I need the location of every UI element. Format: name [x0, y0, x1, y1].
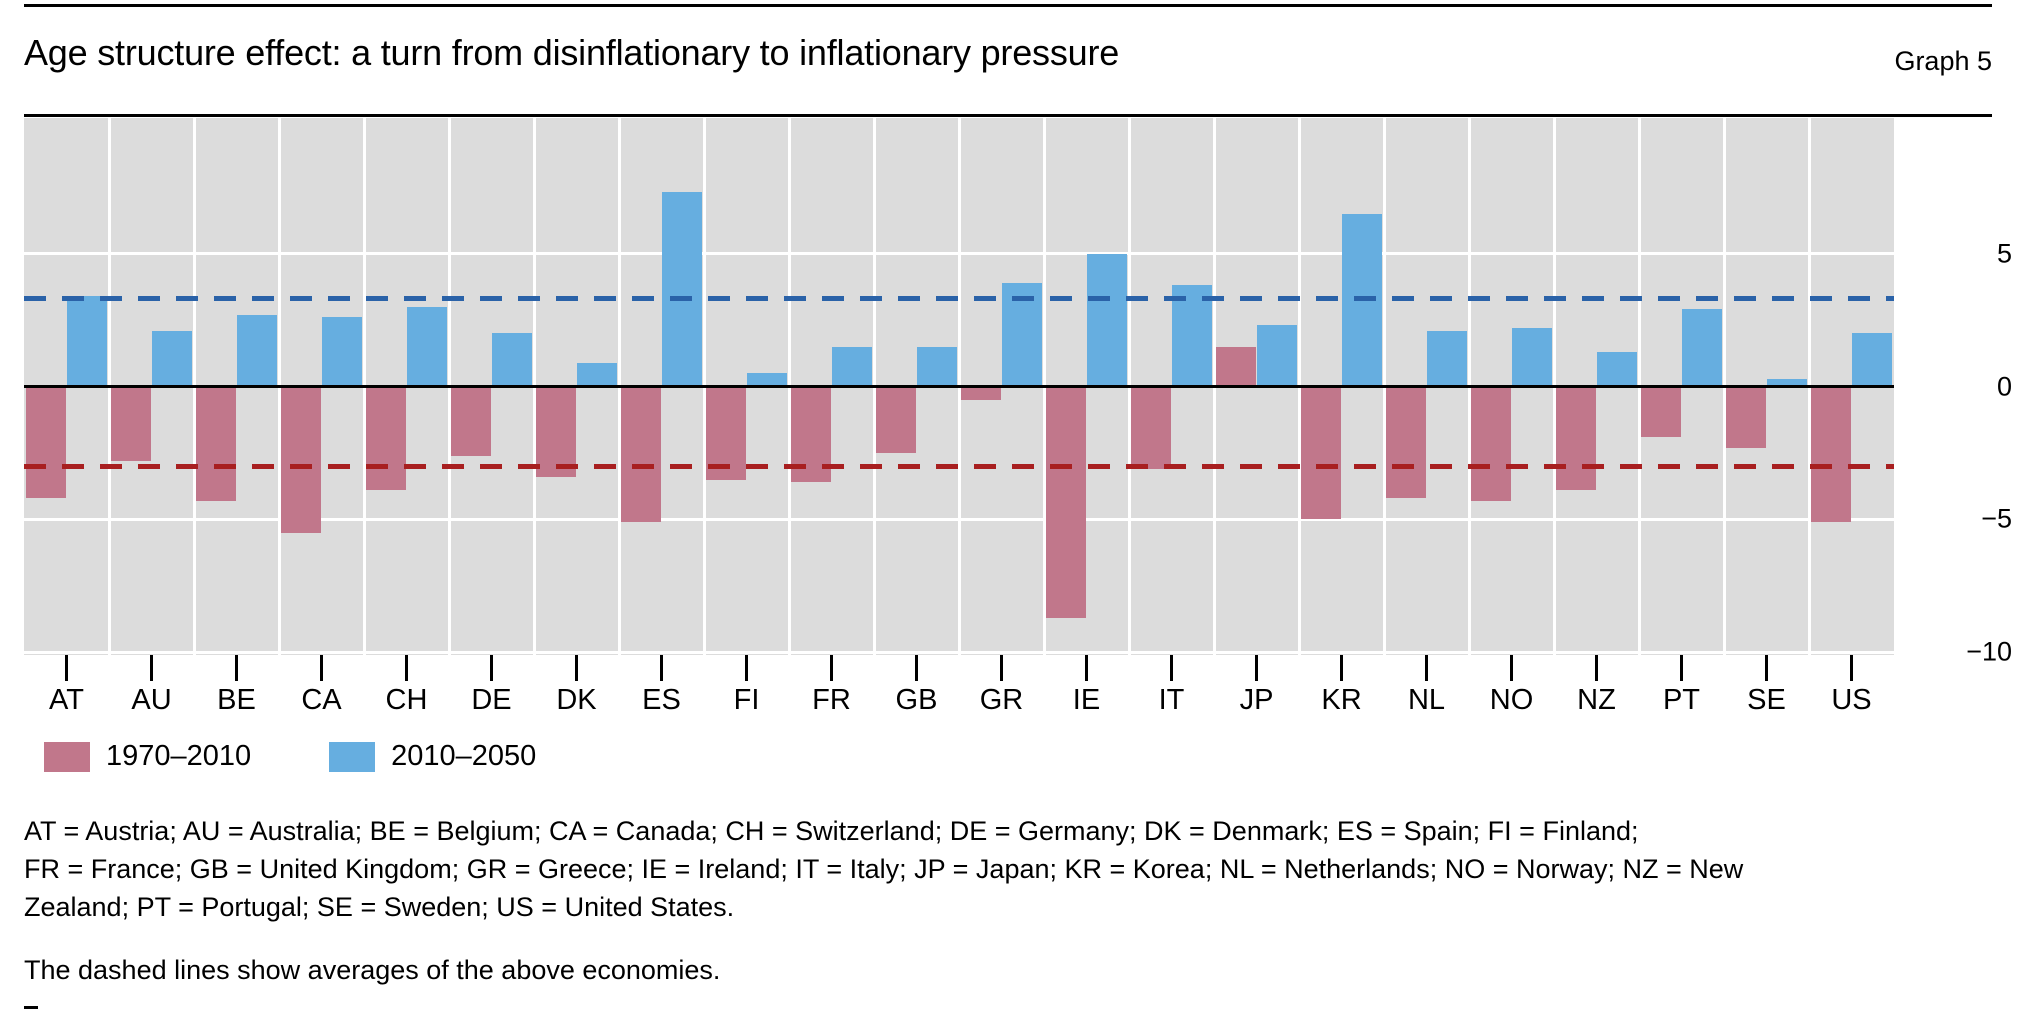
x-tick-mark	[1425, 655, 1428, 681]
x-tick-mark	[915, 655, 918, 681]
legend-label: 2010–2050	[391, 740, 536, 773]
y-tick-label: −10	[1966, 637, 2012, 668]
average-line-period2	[24, 296, 1894, 301]
x-tick-mark	[1085, 655, 1088, 681]
footnote-line-3: Zealand; PT = Portugal; SE = Sweden; US …	[24, 888, 2014, 926]
bar-at-period2	[67, 296, 107, 386]
y-tick-label: 0	[1997, 371, 2012, 402]
x-tick-label-pt: PT	[1663, 684, 1700, 717]
bar-pt-period2	[1682, 309, 1722, 386]
x-tick-label-se: SE	[1747, 684, 1786, 717]
horizontal-gridline	[24, 252, 1894, 255]
horizontal-gridline	[24, 651, 1894, 654]
x-tick-mark	[660, 655, 663, 681]
bar-se-period1	[1726, 387, 1766, 448]
bar-be-period2	[237, 315, 277, 387]
chart-top-rule	[24, 114, 1992, 117]
bar-ch-period2	[407, 307, 447, 387]
x-tick-label-be: BE	[217, 684, 256, 717]
x-tick-label-us: US	[1831, 684, 1871, 717]
x-tick-mark	[830, 655, 833, 681]
x-tick-label-kr: KR	[1321, 684, 1361, 717]
legend-item-period1: 1970–2010	[44, 740, 251, 773]
x-tick-label-it: IT	[1159, 684, 1185, 717]
x-tick-label-no: NO	[1490, 684, 1534, 717]
x-tick-label-jp: JP	[1240, 684, 1274, 717]
x-tick-mark	[1850, 655, 1853, 681]
x-tick-mark	[1595, 655, 1598, 681]
bar-nl-period2	[1427, 331, 1467, 387]
bar-nl-period1	[1386, 387, 1426, 499]
bar-au-period2	[152, 331, 192, 387]
x-tick-mark	[1255, 655, 1258, 681]
bar-gb-period2	[917, 347, 957, 387]
bar-ca-period2	[322, 317, 362, 386]
x-tick-label-gb: GB	[896, 684, 938, 717]
x-tick-label-fr: FR	[812, 684, 851, 717]
bar-ch-period1	[366, 387, 406, 491]
x-tick-mark	[150, 655, 153, 681]
bar-nz-period2	[1597, 352, 1637, 387]
bar-jp-period2	[1257, 325, 1297, 386]
bar-gb-period1	[876, 387, 916, 453]
bar-au-period1	[111, 387, 151, 461]
x-tick-mark	[1765, 655, 1768, 681]
zero-baseline	[24, 385, 1894, 388]
x-tick-label-ie: IE	[1073, 684, 1100, 717]
x-tick-mark	[235, 655, 238, 681]
x-tick-label-fi: FI	[734, 684, 760, 717]
bar-be-period1	[196, 387, 236, 501]
x-tick-label-gr: GR	[980, 684, 1024, 717]
bar-nz-period1	[1556, 387, 1596, 491]
page-title: Age structure effect: a turn from disinf…	[24, 32, 1119, 74]
x-tick-mark	[65, 655, 68, 681]
bar-ie-period2	[1087, 254, 1127, 387]
x-tick-mark	[405, 655, 408, 681]
legend-item-period2: 2010–2050	[329, 740, 536, 773]
x-tick-mark	[1170, 655, 1173, 681]
x-tick-label-es: ES	[642, 684, 681, 717]
dashed-line-note: The dashed lines show averages of the ab…	[24, 955, 720, 986]
x-tick-label-dk: DK	[556, 684, 596, 717]
x-tick-mark	[320, 655, 323, 681]
x-tick-mark	[1680, 655, 1683, 681]
bar-jp-period1	[1216, 347, 1256, 387]
bar-no-period2	[1512, 328, 1552, 386]
bar-no-period1	[1471, 387, 1511, 501]
chart-legend: 1970–20102010–2050	[44, 740, 614, 773]
average-line-period1	[24, 464, 1894, 469]
chart-plot-area	[24, 118, 1894, 655]
legend-swatch-blue	[329, 742, 375, 772]
y-tick-label: 5	[1997, 238, 2012, 269]
bar-us-period2	[1852, 333, 1892, 386]
bar-it-period1	[1131, 387, 1171, 469]
x-tick-mark	[1510, 655, 1513, 681]
legend-swatch-red	[44, 742, 90, 772]
bar-pt-period1	[1641, 387, 1681, 438]
bar-de-period2	[492, 333, 532, 386]
x-tick-mark	[1000, 655, 1003, 681]
legend-label: 1970–2010	[106, 740, 251, 773]
x-tick-mark	[745, 655, 748, 681]
x-tick-label-at: AT	[49, 684, 84, 717]
x-tick-mark	[575, 655, 578, 681]
bar-fr-period2	[832, 347, 872, 387]
bar-es-period1	[621, 387, 661, 523]
x-tick-label-nz: NZ	[1577, 684, 1616, 717]
bottom-rule	[24, 1006, 38, 1009]
x-tick-label-au: AU	[131, 684, 171, 717]
bar-ie-period1	[1046, 387, 1086, 618]
x-tick-label-nl: NL	[1408, 684, 1445, 717]
x-tick-label-de: DE	[471, 684, 511, 717]
top-divider-rule	[24, 4, 1992, 7]
bar-es-period2	[662, 192, 702, 386]
bar-ca-period1	[281, 387, 321, 533]
bar-kr-period1	[1301, 387, 1341, 520]
footnote-block: AT = Austria; AU = Australia; BE = Belgi…	[24, 812, 2014, 926]
bar-at-period1	[26, 387, 66, 499]
graph-number-label: Graph 5	[1894, 46, 1992, 77]
x-tick-mark	[490, 655, 493, 681]
x-tick-mark	[1340, 655, 1343, 681]
bar-gr-period1	[961, 387, 1001, 400]
footnote-line-1: AT = Austria; AU = Australia; BE = Belgi…	[24, 812, 2014, 850]
footnote-line-2: FR = France; GB = United Kingdom; GR = G…	[24, 850, 2014, 888]
bar-de-period1	[451, 387, 491, 456]
x-tick-label-ch: CH	[386, 684, 428, 717]
x-tick-label-ca: CA	[301, 684, 341, 717]
bar-us-period1	[1811, 387, 1851, 523]
bar-dk-period2	[577, 363, 617, 387]
y-tick-label: −5	[1981, 504, 2012, 535]
